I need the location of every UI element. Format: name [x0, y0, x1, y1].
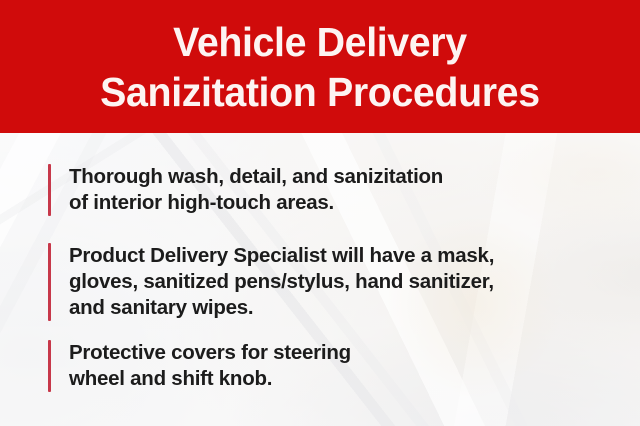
bullet-text-wash-detail: Thorough wash, detail, and sanizitation … — [69, 164, 443, 216]
accent-bar-icon — [48, 164, 51, 216]
bullet-item-specialist-ppe: Product Delivery Specialist will have a … — [48, 243, 494, 321]
bullet-text-protective-covers: Protective covers for steering wheel and… — [69, 340, 351, 392]
header-title-line-2: Sanizitation Procedures — [100, 67, 540, 117]
accent-bar-icon — [48, 340, 51, 392]
bullet-item-protective-covers: Protective covers for steering wheel and… — [48, 340, 351, 392]
sanitization-procedures-infographic: Vehicle Delivery Sanizitation Procedures… — [0, 0, 640, 426]
bullet-item-wash-detail: Thorough wash, detail, and sanizitation … — [48, 164, 443, 216]
accent-bar-icon — [48, 243, 51, 321]
bullet-text-specialist-ppe: Product Delivery Specialist will have a … — [69, 243, 494, 321]
bullet-list: Thorough wash, detail, and sanizitation … — [0, 133, 640, 426]
header-title-line-1: Vehicle Delivery — [173, 17, 467, 67]
header-banner: Vehicle Delivery Sanizitation Procedures — [0, 0, 640, 133]
